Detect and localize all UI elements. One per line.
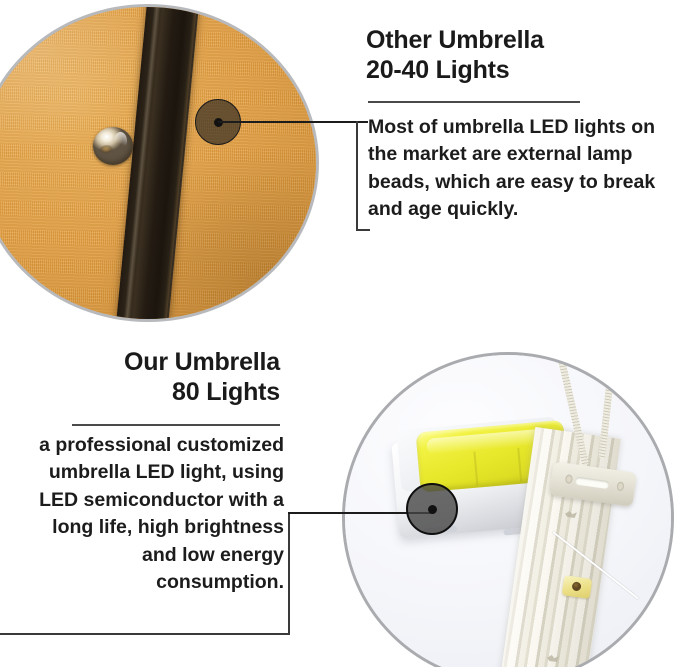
heading-our-umbrella: Our Umbrella 80 Lights <box>22 348 280 407</box>
leader-bracket-bottom-vertical <box>288 512 290 634</box>
leader-line-top-horizontal <box>218 121 368 123</box>
bracket-slot <box>575 477 610 490</box>
bracket-hole <box>616 481 624 491</box>
heading-our-line1: Our Umbrella <box>22 348 280 378</box>
body-other-umbrella: Most of umbrella LED lights on the marke… <box>368 114 674 224</box>
heading-other-umbrella: Other Umbrella 20-40 Lights <box>366 26 666 85</box>
callout-marker-led-chip <box>406 483 458 535</box>
heading-our-underline <box>72 424 280 426</box>
smd-led-chip-photo <box>342 352 674 667</box>
mounted-led-chip <box>562 575 593 599</box>
leader-bracket-top-foot <box>356 229 370 231</box>
heading-our-line2: 80 Lights <box>22 378 280 408</box>
infographic-canvas: Other Umbrella 20-40 Lights Most of umbr… <box>0 0 679 667</box>
umbrella-canopy-photo <box>0 4 319 322</box>
led-strip-assembly <box>521 355 641 667</box>
bracket-hole <box>565 474 573 484</box>
phosphor-groove <box>473 452 478 486</box>
external-lamp-bead <box>93 127 133 165</box>
heading-other-line1: Other Umbrella <box>366 26 666 56</box>
heading-other-underline <box>368 101 580 103</box>
heading-other-line2: 20-40 Lights <box>366 56 666 86</box>
leader-bracket-bottom-foot <box>0 633 290 635</box>
body-our-umbrella: a professional customized umbrella LED l… <box>18 432 284 597</box>
leader-bracket-top-vertical <box>356 121 358 230</box>
